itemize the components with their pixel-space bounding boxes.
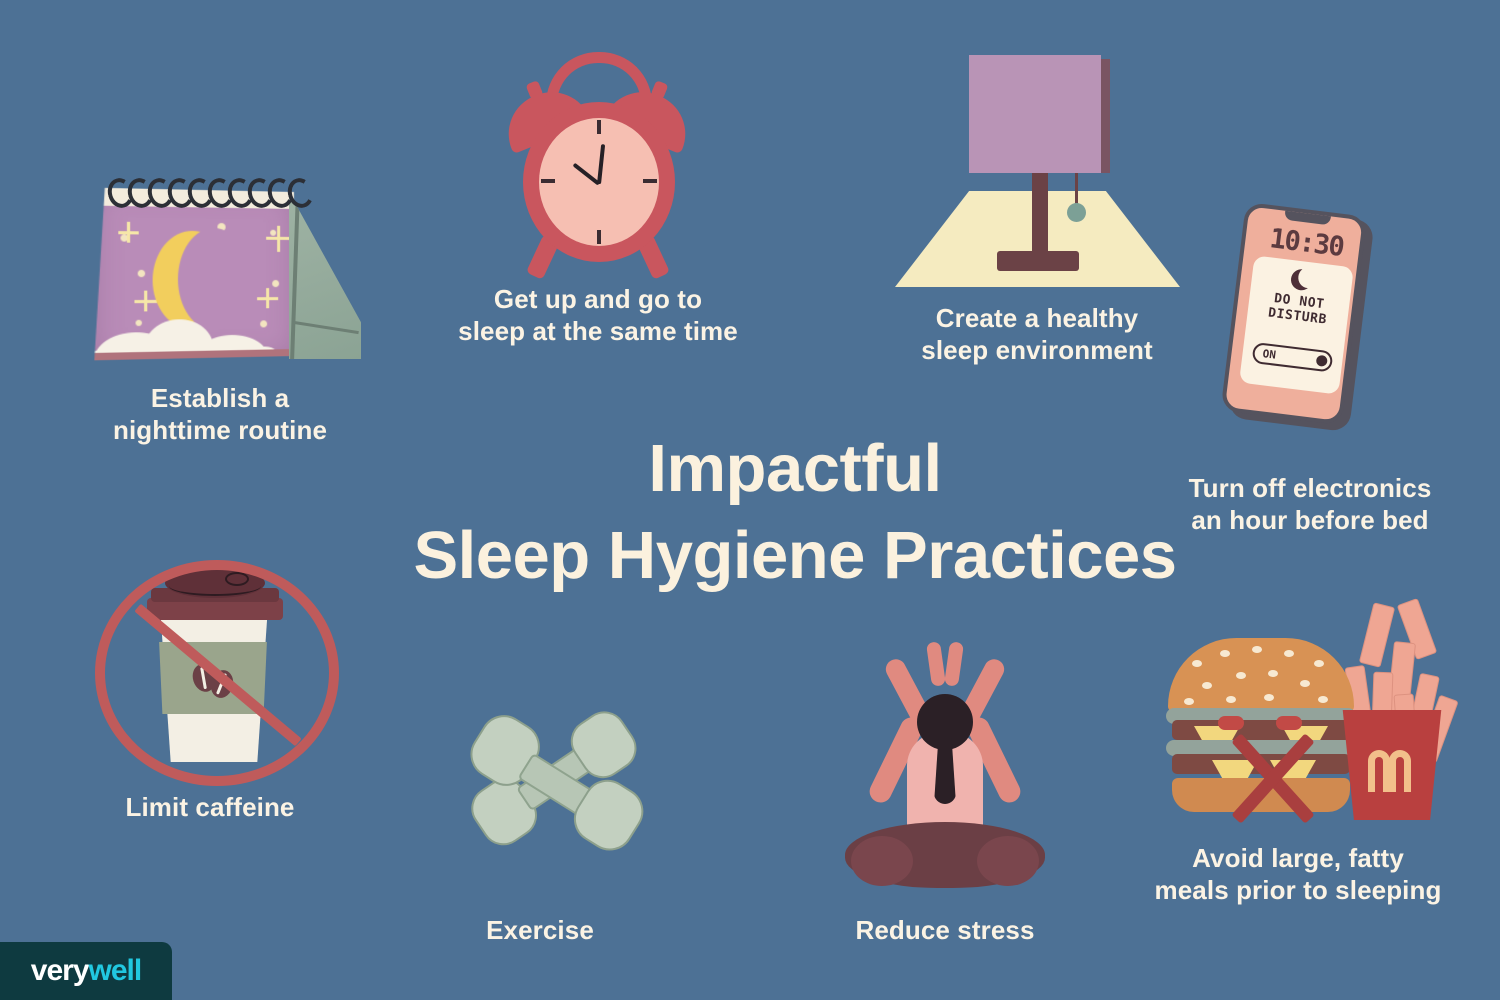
- star-glyph: [257, 297, 278, 300]
- calendar-back-panel: [289, 192, 361, 359]
- burger-top-bun: [1168, 638, 1354, 712]
- star-glyph: [134, 300, 156, 303]
- crescent-moon-icon: [153, 230, 232, 330]
- lamp-shade: [969, 55, 1101, 173]
- lamp-base: [997, 251, 1079, 271]
- yoga-left-knee: [851, 836, 913, 886]
- burger-tomato: [1276, 716, 1302, 730]
- clock-body: [523, 102, 675, 262]
- fry-stick: [1359, 602, 1395, 667]
- star-dot: [272, 280, 279, 287]
- smartphone-dnd-icon: 10:30 DO NOT DISTURB ON: [1217, 202, 1393, 441]
- star-glyph: [118, 231, 138, 234]
- dumbbells-icon: [450, 685, 660, 875]
- clock-face: [539, 118, 659, 246]
- calendar-page: [94, 188, 294, 361]
- clock-hour-hand: [573, 163, 601, 186]
- clock-tick-12: [597, 120, 601, 134]
- burger-tomato: [1218, 716, 1244, 730]
- lamp-cord-bead: [1067, 203, 1086, 222]
- logo-text-well: well: [89, 954, 142, 987]
- no-coffee-icon: [95, 560, 345, 792]
- star-dot: [138, 270, 145, 277]
- star-glyph: [266, 237, 291, 240]
- clock-minute-hand: [597, 144, 605, 184]
- caption-avoid-fatty-meals: Avoid large, fatty meals prior to sleepi…: [1130, 843, 1466, 906]
- calendar-spiral-binding: [108, 178, 323, 204]
- infographic-canvas: Impactful Sleep Hygiene Practices: [0, 0, 1500, 1000]
- verywell-logo[interactable]: verywell: [0, 942, 172, 1000]
- toggle-state-label: ON: [1262, 347, 1277, 362]
- caption-turn-off-electronics: Turn off electronics an hour before bed: [1155, 473, 1465, 536]
- phone-body: 10:30 DO NOT DISTURB ON: [1220, 202, 1367, 425]
- caption-exercise: Exercise: [440, 915, 640, 947]
- burger-fries-icon: [1160, 600, 1450, 835]
- yoga-left-hand: [926, 641, 946, 687]
- toggle-knob: [1316, 355, 1328, 367]
- yoga-right-knee: [977, 836, 1039, 886]
- clock-tick-6: [597, 230, 601, 244]
- logo-text-very: very: [31, 954, 89, 987]
- page-title: Impactful Sleep Hygiene Practices: [380, 425, 1210, 599]
- clock-tick-9: [541, 179, 555, 183]
- logo-text: verywell: [31, 954, 141, 988]
- moon-icon: [1290, 268, 1313, 291]
- lamp-stem: [1032, 171, 1048, 255]
- golden-arches-logo-icon: [1368, 750, 1416, 792]
- lamp-pull-cord: [1075, 173, 1078, 207]
- dumbbell-front: [416, 648, 695, 920]
- caption-same-time: Get up and go to sleep at the same time: [420, 284, 776, 347]
- calendar-moon-icon: [88, 178, 360, 370]
- table-lamp-icon: [895, 55, 1180, 287]
- caption-reduce-stress: Reduce stress: [840, 915, 1050, 947]
- alarm-clock-icon: [498, 42, 698, 270]
- phone-dnd-label: DO NOT DISTURB: [1247, 289, 1350, 331]
- clock-tick-3: [643, 179, 657, 183]
- caption-limit-caffeine: Limit caffeine: [85, 792, 335, 824]
- phone-notch: [1284, 211, 1331, 226]
- phone-dnd-card: DO NOT DISTURB ON: [1239, 255, 1354, 394]
- yoga-lotus-icon: [845, 640, 1045, 890]
- star-dot: [270, 230, 276, 236]
- caption-sleep-environment: Create a healthy sleep environment: [890, 303, 1184, 366]
- caption-nighttime-routine: Establish a nighttime routine: [60, 383, 380, 446]
- phone-dnd-toggle[interactable]: ON: [1252, 342, 1334, 373]
- yoga-right-hand: [944, 641, 964, 687]
